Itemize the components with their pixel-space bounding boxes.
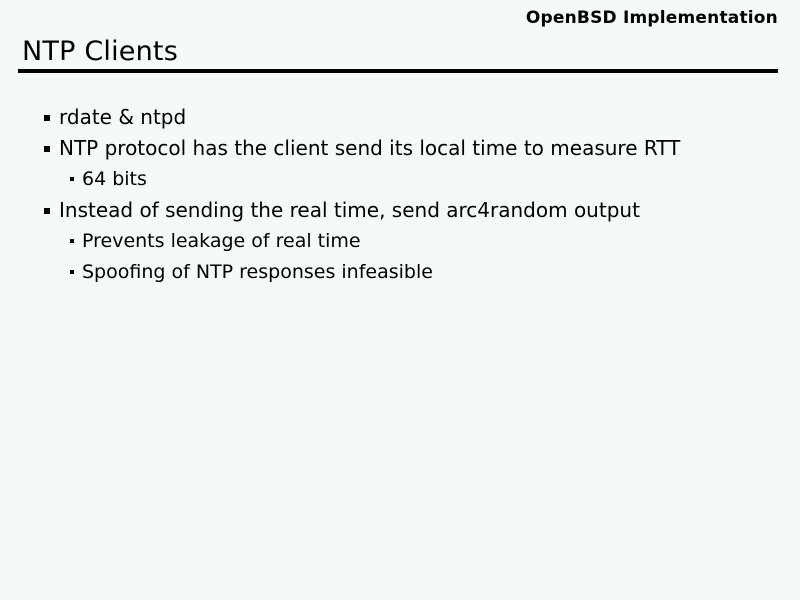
square-bullet-icon [44, 115, 50, 121]
list-item-label: 64 bits [82, 166, 147, 192]
list-item: NTP protocol has the client send its loc… [0, 135, 800, 166]
list-item: rdate & ntpd [0, 104, 800, 135]
bullet-list: rdate & ntpd NTP protocol has the client… [0, 104, 800, 290]
title-divider [18, 69, 778, 73]
page-title: NTP Clients [22, 36, 178, 67]
list-item-label: Spoofing of NTP responses infeasible [82, 259, 433, 285]
list-item-label: rdate & ntpd [59, 104, 186, 130]
small-square-bullet-icon [70, 239, 74, 243]
list-item: Prevents leakage of real time [0, 228, 800, 259]
list-item-label: Prevents leakage of real time [82, 228, 361, 254]
list-item-label: Instead of sending the real time, send a… [59, 197, 640, 223]
small-square-bullet-icon [70, 270, 74, 274]
list-item-label: NTP protocol has the client send its loc… [59, 135, 680, 161]
square-bullet-icon [44, 208, 50, 214]
small-square-bullet-icon [70, 177, 74, 181]
list-item: 64 bits [0, 166, 800, 197]
list-item: Spoofing of NTP responses infeasible [0, 259, 800, 290]
slide-header-label: OpenBSD Implementation [526, 8, 778, 28]
list-item: Instead of sending the real time, send a… [0, 197, 800, 228]
presentation-slide: OpenBSD Implementation NTP Clients rdate… [0, 0, 800, 600]
square-bullet-icon [44, 146, 50, 152]
